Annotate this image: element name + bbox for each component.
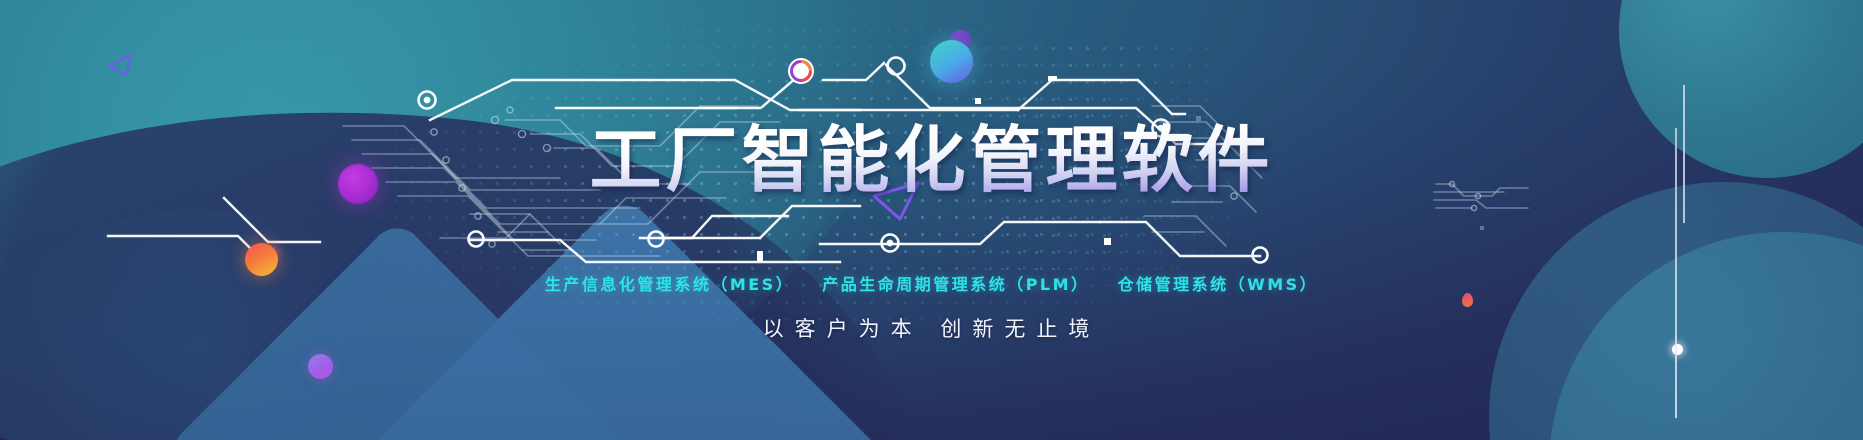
ring-node-icon [780, 50, 822, 92]
orb-purple-small [950, 30, 971, 51]
orb-magenta [338, 164, 378, 204]
orb-orange-halo [258, 240, 284, 266]
subtitle-item-plm: 产品生命周期管理系统（PLM） [822, 271, 1089, 295]
dot-white [1672, 344, 1683, 355]
triangle-outline-center [866, 178, 922, 224]
headline-container: 工厂智能化管理软件 [0, 118, 1863, 202]
orb-pink-small [1462, 293, 1473, 307]
tagline: 以客户为本 创新无止境 [0, 313, 1863, 343]
vertical-line-short [1683, 85, 1685, 223]
product-subtitle-row: 生产信息化管理系统（MES） 产品生命周期管理系统（PLM） 仓储管理系统（WM… [0, 271, 1863, 295]
dot-matrix-pattern-2 [960, 40, 1260, 270]
page-title: 工厂智能化管理软件 [579, 118, 1283, 202]
orb-teal-gradient [930, 40, 973, 83]
subtitle-item-mes: 生产信息化管理系统（MES） [545, 271, 794, 295]
hero-banner: 工厂智能化管理软件 生产信息化管理系统（MES） 产品生命周期管理系统（PLM）… [0, 0, 1863, 440]
triangle-outline-topleft [104, 52, 134, 78]
background-circle-top-right [1619, 0, 1863, 178]
subtitle-item-wms: 仓储管理系统（WMS） [1118, 271, 1319, 295]
background-circle-bottom-right [1489, 182, 1863, 440]
